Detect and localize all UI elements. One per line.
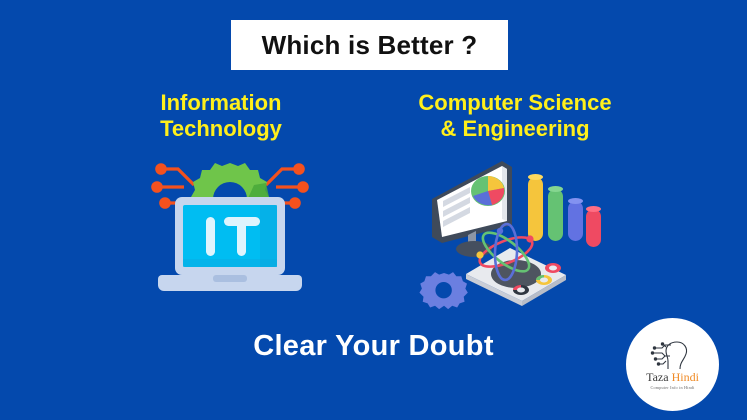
bar-chart-icon — [528, 174, 601, 247]
title-banner: Which is Better ? — [231, 20, 508, 70]
it-laptop-svg — [150, 155, 310, 305]
logo-word-taza: Taza — [646, 370, 668, 384]
page-title: Which is Better ? — [262, 30, 478, 61]
logo-wordmark: Taza Hindi — [646, 371, 699, 383]
poster-canvas: Which is Better ? Information Technology… — [0, 0, 747, 420]
pie-chart-icon — [471, 176, 505, 206]
circuit-head-icon — [650, 340, 696, 370]
cse-illustration-svg — [418, 155, 604, 310]
logo-tagline: Computer Info in Hindi — [650, 385, 694, 390]
gear-icon — [419, 272, 467, 309]
it-laptop-illustration — [150, 155, 310, 305]
heading-computer-science-engineering: Computer Science & Engineering — [390, 90, 640, 142]
heading-information-technology: Information Technology — [110, 90, 332, 142]
cse-data-science-illustration — [418, 155, 604, 310]
taza-hindi-logo[interactable]: Taza Hindi Computer Info in Hindi — [626, 318, 719, 411]
logo-word-hindi: Hindi — [672, 370, 699, 384]
